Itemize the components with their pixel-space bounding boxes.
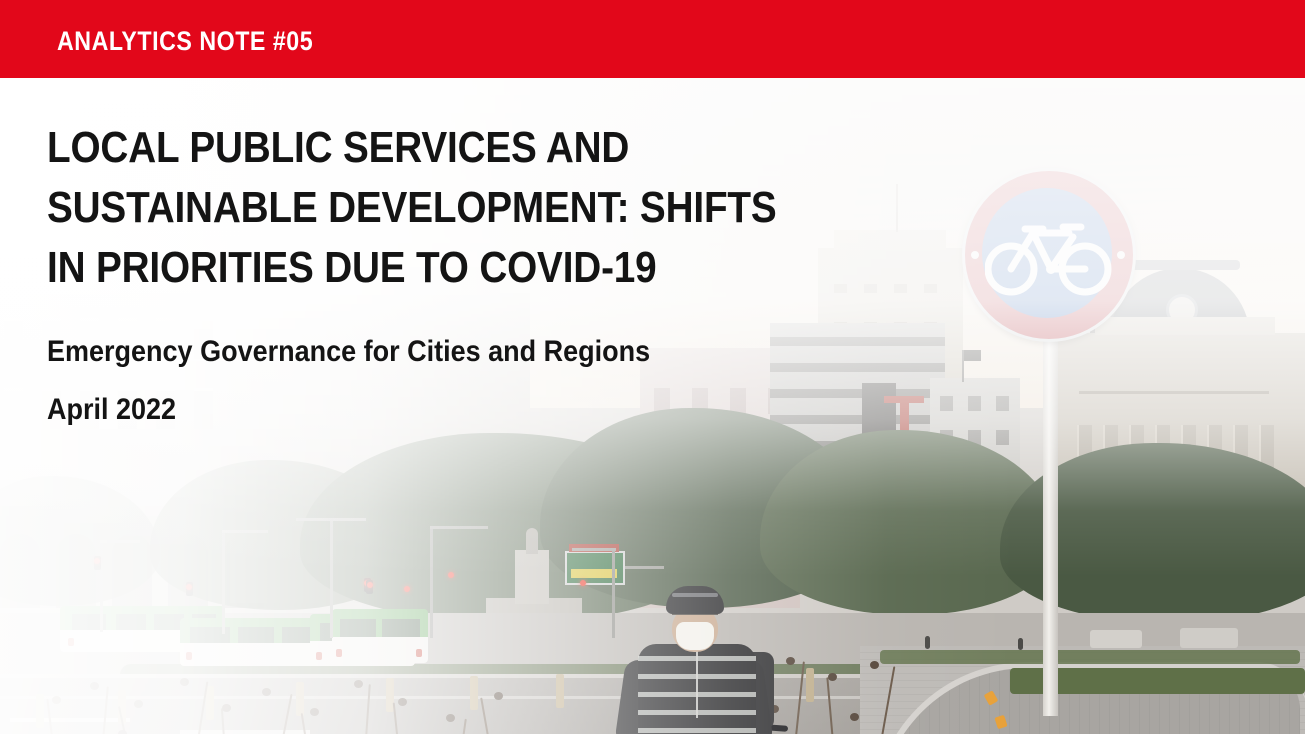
traffic-light-red [94,558,100,564]
monument-statue [526,528,538,554]
traffic-light-red [404,586,410,592]
cyclist [612,578,802,734]
page-title-line-3: IN PRIORITIES DUE TO COVID-19 [47,238,804,298]
city-bus [332,609,428,663]
traffic-light-red [580,580,586,586]
bicycle-icon [985,207,1113,303]
monument-column [515,550,549,604]
analytics-note-banner: ANALYTICS NOTE #05 [0,0,1305,78]
sign-pole [1043,276,1058,716]
pedestrian [1018,638,1023,650]
flag [964,350,981,361]
traffic-light-red [186,584,192,590]
face-mask [676,622,714,650]
analytics-note-label: ANALYTICS NOTE #05 [57,26,313,57]
traffic-light-red [367,582,373,588]
publication-date: April 2022 [47,390,821,430]
page-subtitle: Emergency Governance for Cities and Regi… [47,332,821,372]
earphone-cable [696,644,698,718]
pedestrian [925,636,930,649]
parked-vehicle [1090,630,1142,648]
bicycle-lane-sign [962,168,1136,342]
page-title-line-1: LOCAL PUBLIC SERVICES AND [47,118,804,178]
bike-helmet [666,586,724,614]
traffic-light-red [448,572,454,578]
cover-text-block: LOCAL PUBLIC SERVICES AND SUSTAINABLE DE… [47,118,907,430]
grass-strip [880,650,1300,664]
page-title-line-2: SUSTAINABLE DEVELOPMENT: SHIFTS [47,178,804,238]
cover-page: ANALYTICS NOTE #05 [0,0,1305,734]
parked-vehicle [1180,628,1238,648]
sign-gantry-arm [620,566,664,569]
